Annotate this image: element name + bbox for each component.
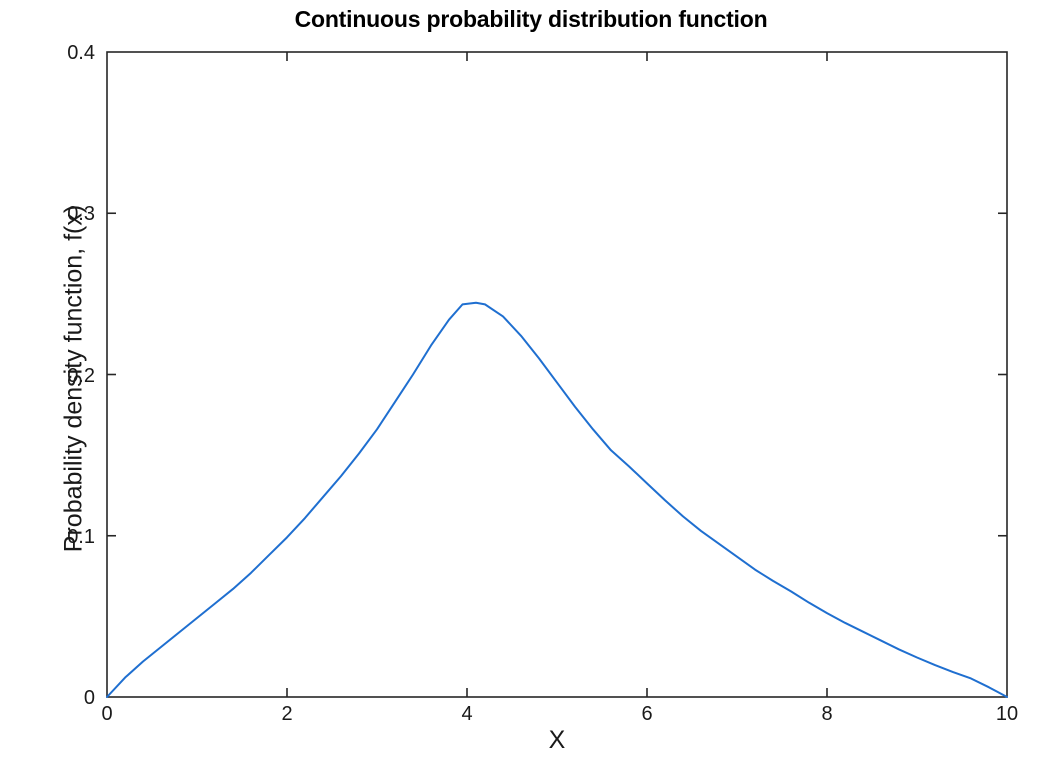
- axes-box: [107, 52, 1007, 697]
- tick-marks: [107, 52, 1007, 697]
- plot-area: [0, 0, 1062, 768]
- data-line-series-0: [107, 303, 1007, 697]
- figure-canvas: Continuous probability distribution func…: [0, 0, 1062, 768]
